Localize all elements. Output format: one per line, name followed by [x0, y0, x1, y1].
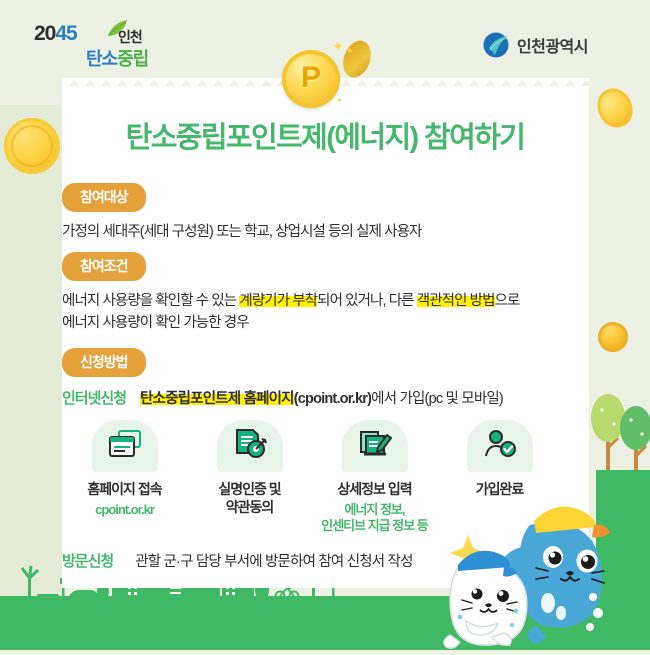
campaign-logo-line2-a: 탄소 — [86, 49, 117, 69]
browser-window-icon — [108, 429, 142, 464]
step-icon-tile — [342, 420, 408, 472]
section-badge: 참여대상 — [62, 183, 146, 212]
point-coin-group: P ✦ ✦ ✦ — [272, 34, 372, 114]
visit-apply-row: 방문신청 관할 군·구 담당 부서에 방문하여 참여 신청서 작성 — [62, 550, 413, 571]
poster-root: P ✦ ✦ ✦ 2045 인천 탄소중립 인천광역시 — [0, 0, 650, 650]
highlighted-segment: 객관적인 방법 — [417, 293, 495, 309]
section-apply: 신청방법 인터넷신청 탄소중립포인트제 홈페이지(cpoint.or.kr)에서… — [62, 348, 503, 408]
incheon-swirl-icon — [483, 32, 509, 58]
apply-step: 홈페이지 접속 cpoint.or.kr — [62, 420, 187, 534]
text-segment: 에서 가입(pc 및 모바일) — [371, 391, 503, 407]
section-badge: 신청방법 — [62, 348, 146, 377]
gold-coin-icon — [598, 322, 628, 352]
sparkle-icon: ✦ — [332, 38, 344, 55]
step-label: 상세정보 입력 — [312, 481, 437, 499]
left-green-column — [0, 105, 62, 596]
visit-apply-label: 방문신청 — [62, 550, 113, 571]
text-segment: 으로 — [495, 293, 520, 309]
campaign-logo-year-prefix: 20 — [34, 22, 55, 45]
campaign-logo: 2045 인천 탄소중립 — [34, 20, 174, 68]
step-icon-tile — [467, 420, 533, 472]
step-icon-tile — [217, 420, 283, 472]
campaign-logo-line2: 탄소중립 — [86, 45, 148, 71]
step-sublabel: cpoint.or.kr — [62, 502, 187, 518]
sparkle-icon: ✦ — [346, 46, 354, 57]
incheon-city-logo: 인천광역시 — [483, 32, 588, 58]
sparkle-icon: ✦ — [336, 96, 343, 105]
document-verify-icon — [233, 428, 267, 465]
text-segment: 되어 있거나, 다른 — [317, 293, 417, 309]
incheon-city-logo-name: 인천광역시 — [517, 33, 588, 57]
visit-apply-text: 관할 군·구 담당 부서에 방문하여 참여 신청서 작성 — [135, 550, 412, 571]
step-sublabel: 에너지 정보, 인센티브 지급 정보 등 — [312, 502, 437, 535]
campaign-logo-line2-b: 중립 — [117, 49, 148, 69]
internet-apply-text: 탄소중립포인트제 홈페이지(cpoint.or.kr)에서 가입(pc 및 모바… — [140, 387, 503, 408]
text-segment: 에너지 사용량을 확인할 수 있는 — [62, 293, 239, 309]
section-line: 에너지 사용량이 확인 가능한 경우 — [62, 312, 519, 334]
campaign-logo-year: 2045 — [34, 22, 77, 46]
point-coin-label: P — [301, 63, 321, 93]
campaign-logo-city: 인천 — [118, 27, 142, 47]
internet-apply-row: 인터넷신청 탄소중립포인트제 홈페이지(cpoint.or.kr)에서 가입(p… — [62, 387, 503, 408]
section-conditions: 참여조건 에너지 사용량을 확인할 수 있는 계량기가 부착되어 있거나, 다른… — [62, 252, 519, 335]
internet-apply-label: 인터넷신청 — [62, 387, 126, 408]
highlighted-segment: 탄소중립포인트제 홈페이지 — [140, 391, 294, 407]
highlighted-segment: 계량기가 부착 — [239, 293, 317, 309]
point-coin-icon: P — [282, 50, 340, 108]
user-check-icon — [483, 429, 517, 464]
section-body: 가정의 세대주(세대 구성원) 또는 학교, 상업시설 등의 실제 사용자 — [62, 221, 421, 243]
step-label: 홈페이지 접속 — [62, 481, 187, 499]
campaign-logo-year-suffix: 45 — [55, 22, 76, 45]
apply-step: 실명인증 및 약관동의 — [187, 420, 312, 534]
page-title: 탄소중립포인트제(에너지) 참여하기 — [0, 114, 650, 156]
section-badge: 참여조건 — [62, 252, 146, 281]
site-url[interactable]: (cpoint.or.kr) — [294, 391, 371, 407]
section-line: 에너지 사용량을 확인할 수 있는 계량기가 부착되어 있거나, 다른 객관적인… — [62, 290, 519, 312]
step-label: 실명인증 및 약관동의 — [187, 481, 312, 516]
mascot-group — [430, 485, 640, 650]
section-participants: 참여대상 가정의 세대주(세대 구성원) 또는 학교, 상업시설 등의 실제 사… — [62, 183, 421, 243]
section-body: 에너지 사용량을 확인할 수 있는 계량기가 부착되어 있거나, 다른 객관적인… — [62, 290, 519, 335]
step-icon-tile — [92, 420, 158, 472]
apply-step: 상세정보 입력 에너지 정보, 인센티브 지급 정보 등 — [312, 420, 437, 534]
form-pencil-icon — [358, 429, 392, 464]
section-line: 가정의 세대주(세대 구성원) 또는 학교, 상업시설 등의 실제 사용자 — [62, 221, 421, 243]
